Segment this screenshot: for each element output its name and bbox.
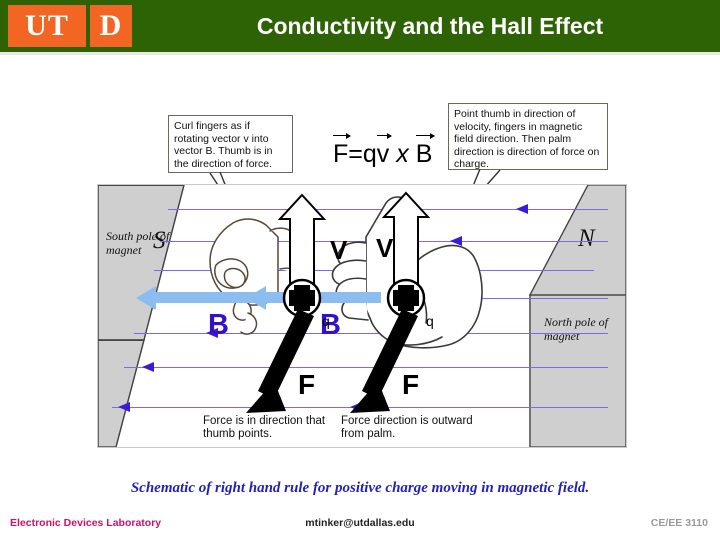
caption-left-force-thumb: Force is in direction that thumb points. [203,415,338,441]
field-line-arrow-5b [396,328,408,338]
field-line-arrow-7 [118,402,130,412]
b-arrow-right-head [246,286,266,310]
field-line-arrow-6b [376,362,388,372]
callout-left-hand-rule-text: Curl fingers as if rotating vector v int… [168,115,293,173]
charge-label-right: q [426,313,434,329]
footer-course-code: CE/EE 3110 [651,517,708,529]
force-label-left: F [298,369,315,401]
field-line-arrow-6 [142,362,154,372]
lorentz-force-formula: F=qv x B [333,140,432,169]
north-pole-letter: N [578,225,595,253]
force-label-right: F [402,369,419,401]
schematic-caption: Schematic of right hand rule for positiv… [0,480,720,497]
velocity-arrow-left [280,195,324,301]
formula-q: q [363,140,377,168]
formula-cross: x [396,140,409,168]
callout-right-hand-rule-text: Point thumb in direction of velocity, fi… [448,103,608,170]
field-line-arrow-3 [406,265,418,275]
south-pole-label: South pole of magnet [106,229,180,257]
field-line-arrow-4b [450,293,462,303]
field-line-3 [154,270,594,271]
caption-right-force-palm: Force direction is outward from palm. [341,415,486,441]
page-title: Conductivity and the Hall Effect [150,0,710,52]
north-pole-label: North pole of magnet [544,315,624,343]
utd-logo: UT D [8,5,136,47]
field-line-arrow-7b [350,402,362,412]
logo-block-d: D [90,5,132,47]
header-underline [0,52,720,55]
field-line-arrow-1 [516,204,528,214]
b-field-label-left: B [208,309,229,342]
formula-v-vector: v [377,140,390,169]
formula-b-vector: B [416,140,433,169]
formula-f-vector: F [333,140,348,169]
hall-effect-diagram: South pole of magnet S North pole of mag… [97,184,627,448]
formula-equals: = [348,140,363,168]
b-arrow-right-shaft [266,292,381,303]
charge-label-left: q [322,313,330,329]
field-line-6 [124,367,608,368]
velocity-label-left: V [330,235,347,266]
field-line-arrow-2 [450,236,462,246]
velocity-label-right: V [376,233,393,264]
field-line-1 [168,209,608,210]
logo-block-ut: UT [8,5,86,47]
b-arrow-left-head [136,286,156,310]
footer-email: mtinker@utdallas.edu [0,517,720,529]
south-magnet-lower-block [98,340,170,448]
